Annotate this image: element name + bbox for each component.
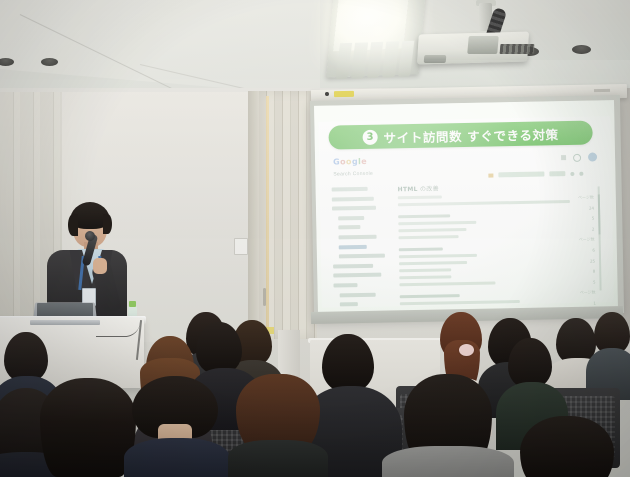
help-icon[interactable] xyxy=(579,171,583,175)
page-title: HTML の改善 xyxy=(398,181,574,193)
partition-handle[interactable] xyxy=(263,288,266,306)
laptop-base xyxy=(30,320,100,325)
property-url xyxy=(498,171,544,177)
section-header-line xyxy=(399,247,443,251)
audience-head xyxy=(322,334,374,392)
google-logo-letter: e xyxy=(361,157,367,166)
property-selector[interactable] xyxy=(488,171,583,178)
projector-lens xyxy=(424,55,447,63)
seminar-room-photo: 3 サイト訪問数 すぐできる対策 Google Search Console xyxy=(0,0,630,477)
presenter-hand xyxy=(93,258,107,274)
ceiling-speaker-icon xyxy=(572,45,591,54)
hair-accessory xyxy=(459,344,474,356)
screen-valance-label xyxy=(334,91,354,97)
slide: 3 サイト訪問数 すぐできる対策 Google Search Console xyxy=(314,100,618,314)
content-line xyxy=(399,275,451,279)
slide-banner: 3 サイト訪問数 すぐできる対策 xyxy=(328,121,592,150)
light-louver xyxy=(336,41,415,80)
content-line xyxy=(398,195,442,199)
audience-head xyxy=(508,338,552,388)
content-line xyxy=(398,221,476,225)
search-console-sidebar xyxy=(332,186,392,312)
sidebar-item-data-highlighter[interactable] xyxy=(339,235,377,240)
count-header: ページ数 xyxy=(569,235,595,246)
audience-body xyxy=(228,440,328,477)
sidebar-item-crawl[interactable] xyxy=(333,283,357,287)
apps-grid-icon[interactable] xyxy=(561,155,566,160)
page-title-prefix: HTML xyxy=(398,186,418,193)
presenter-hair-side xyxy=(68,214,78,236)
sidebar-item-amp[interactable] xyxy=(339,254,385,259)
sidebar-item-google-index[interactable] xyxy=(333,273,381,278)
audience-body xyxy=(382,446,514,477)
count-value: 5 xyxy=(569,277,595,288)
sidebar-item-security-issues[interactable] xyxy=(340,292,376,297)
content-line xyxy=(400,300,520,305)
audience-head xyxy=(4,332,48,382)
content-line xyxy=(399,281,495,286)
slide-banner-number: 3 xyxy=(362,129,377,144)
audience-head xyxy=(40,378,136,477)
projector-ports xyxy=(500,44,535,54)
presenter-hair-side xyxy=(103,214,112,234)
google-logo: Google xyxy=(333,157,367,167)
sidebar-item-search-traffic[interactable] xyxy=(333,264,373,269)
ceiling-speaker-icon xyxy=(41,58,58,66)
content-line xyxy=(399,254,477,258)
content-line xyxy=(398,200,570,206)
sidebar-item-dashboard[interactable] xyxy=(332,187,368,192)
gear-icon[interactable] xyxy=(573,153,581,161)
gear-icon[interactable] xyxy=(570,171,574,175)
sidebar-item-messages[interactable] xyxy=(332,196,374,201)
product-name: Search Console xyxy=(333,171,373,178)
content-line xyxy=(399,261,467,265)
content-line xyxy=(399,268,451,272)
topbar-icons xyxy=(561,152,597,162)
count-value: 24 xyxy=(568,203,594,214)
wall-switch-plate[interactable] xyxy=(234,238,248,255)
search-console-content: HTML の改善 xyxy=(398,181,576,309)
count-value: 25 xyxy=(569,256,595,267)
sidebar-item-html-improvements[interactable] xyxy=(339,244,367,249)
screen-valance-clip xyxy=(594,89,610,92)
content-line xyxy=(398,228,466,232)
help-menu[interactable] xyxy=(549,171,565,176)
avatar[interactable] xyxy=(588,152,597,161)
page-title-suffix: の改善 xyxy=(420,186,439,193)
projection-screen: 3 サイト訪問数 すぐできる対策 Google Search Console xyxy=(314,100,618,314)
search-console-screenshot: Google Search Console xyxy=(327,150,602,301)
page-count-column: ページ数 24 5 2 ページ数 6 25 8 5 ページ数 1 xyxy=(568,193,596,310)
water-bottle-cap xyxy=(129,301,136,307)
property-icon xyxy=(488,173,493,177)
sidebar-item-structured-data[interactable] xyxy=(338,216,364,220)
section-header-line xyxy=(400,294,460,298)
audience-head xyxy=(520,416,614,477)
slide-banner-title: サイト訪問数 すぐできる対策 xyxy=(383,124,558,146)
screen-valance-button[interactable] xyxy=(325,92,329,96)
section-header-line xyxy=(398,214,450,218)
laptop-screen xyxy=(37,303,93,317)
partition-track-strip xyxy=(266,96,269,334)
count-header: ページ数 xyxy=(568,193,594,204)
sidebar-item-rich-cards[interactable] xyxy=(338,225,360,229)
content-line xyxy=(399,235,459,239)
count-value: 6 xyxy=(569,246,595,257)
audience-head xyxy=(196,322,242,374)
count-header: ページ数 xyxy=(570,288,596,299)
sidebar-item-search-appearance[interactable] xyxy=(332,206,376,211)
sidebar-item-other-resources[interactable] xyxy=(340,302,358,306)
projector-vent xyxy=(467,36,499,54)
count-value: 8 xyxy=(569,267,595,278)
count-value: 5 xyxy=(568,214,594,225)
count-value: 2 xyxy=(568,224,594,235)
audience-body xyxy=(124,438,230,477)
